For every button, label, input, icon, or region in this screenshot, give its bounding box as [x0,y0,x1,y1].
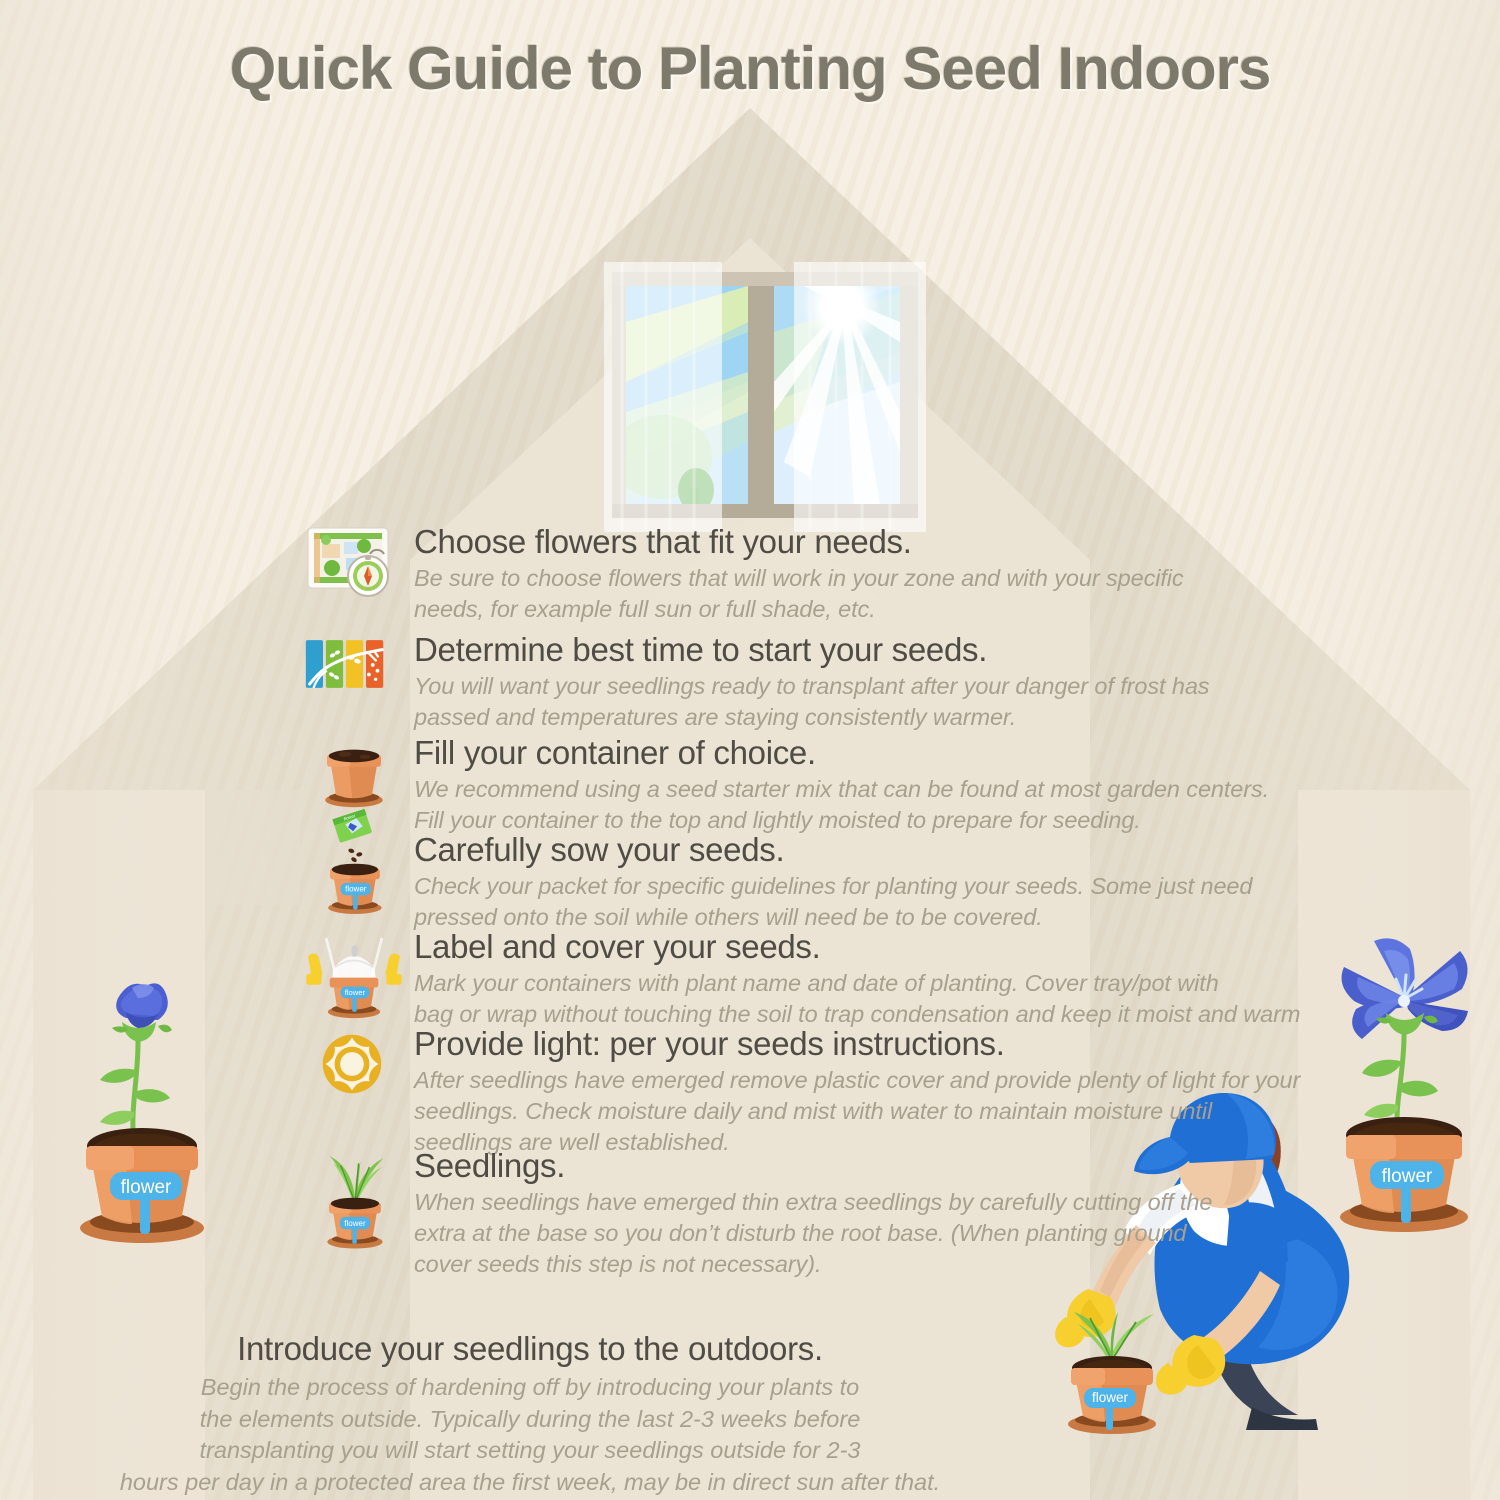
infographic-canvas: Quick Guide to Planting Seed Indoors [0,0,1500,1500]
step-heading: Carefully sow your seeds. [414,832,1302,869]
gardener-seedling-pot: flower [1040,1290,1185,1435]
step-item: flower [302,832,1302,929]
step-heading: Seedlings. [414,1148,1302,1185]
blue-flower-bud-in-pot: flower [60,960,225,1255]
step-item: Fill your container of choice. We recomm… [302,735,1302,832]
step-body: Check your packet for specific guideline… [414,869,1302,934]
step-body: When seedlings have emerged thin extra s… [414,1185,1302,1281]
step-item: Choose flowers that fit your needs. Be s… [302,524,1302,632]
step-item: flower Label and cover your seeds. Mark … [302,929,1302,1026]
seed-packet-sowing-icon: flower [314,808,418,920]
footer-body-line: hours per day in a protected area the fi… [0,1467,1060,1499]
step-body-line: Check your packet for specific guideline… [414,871,1302,902]
step-item: Determine best time to start your seeds.… [302,632,1302,735]
footer-body: Begin the process of hardening off by in… [0,1372,1060,1499]
sun-light-icon [320,1032,424,1101]
step-heading: Fill your container of choice. [414,735,1302,772]
footer-body-line: the elements outside. Typically during t… [0,1404,1060,1436]
four-seasons-icon [302,636,406,697]
step-body: Mark your containers with plant name and… [414,966,1302,1031]
pot-label-text: flower [1092,1390,1129,1405]
footer-body-line: Begin the process of hardening off by in… [0,1372,1060,1404]
step-body: You will want your seedlings ready to tr… [414,669,1302,734]
step-heading: Determine best time to start your seeds. [414,632,1302,669]
step-body-line: Mark your containers with plant name and… [414,968,1302,999]
step-item: flower Seedlings. When seedlings have em… [302,1148,1302,1288]
window-with-sunlight-icon [604,262,926,534]
step-body-line: After seedlings have emerged remove plas… [414,1065,1302,1096]
steps-list: Choose flowers that fit your needs. Be s… [302,524,1302,1288]
step-heading: Label and cover your seeds. [414,929,1302,966]
step-heading: Choose flowers that fit your needs. [414,524,1302,561]
covered-pot-gloves-icon: flower [306,929,410,1024]
step-heading: Provide light: per your seeds instructio… [414,1026,1302,1063]
step-item: Provide light: per your seeds instructio… [302,1026,1302,1148]
step-body-line: When seedlings have emerged thin extra s… [414,1187,1302,1218]
step-body-line: cover seeds this step is not necessary). [414,1249,1302,1280]
step-body-line: needs, for example full sun or full shad… [414,594,1302,625]
svg-text:flower: flower [344,1219,366,1228]
step-body-line: passed and temperatures are staying cons… [414,702,1302,733]
garden-plan-compass-icon [302,524,406,609]
footer-section: Introduce your seedlings to the outdoors… [0,1330,1060,1499]
step-body-line: Be sure to choose flowers that will work… [414,563,1302,594]
step-body: Be sure to choose flowers that will work… [414,561,1302,626]
svg-text:flower: flower [345,988,366,997]
page-title: Quick Guide to Planting Seed Indoors [0,34,1500,103]
footer-heading: Introduce your seedlings to the outdoors… [0,1330,1060,1368]
step-body-line: extra at the base so you don’t disturb t… [414,1218,1302,1249]
svg-text:flower: flower [345,885,367,894]
step-body-line: You will want your seedlings ready to tr… [414,671,1302,702]
step-body-line: We recommend using a seed starter mix th… [414,774,1302,805]
pot-label-text: flower [121,1177,172,1198]
seedlings-pot-icon: flower [314,1142,418,1254]
footer-body-line: transplanting you will start setting you… [0,1435,1060,1467]
filled-pot-icon [318,737,422,814]
step-body: After seedlings have emerged remove plas… [414,1063,1302,1159]
step-body: We recommend using a seed starter mix th… [414,772,1302,837]
step-body-line: seedlings. Check moisture daily and mist… [414,1096,1302,1127]
